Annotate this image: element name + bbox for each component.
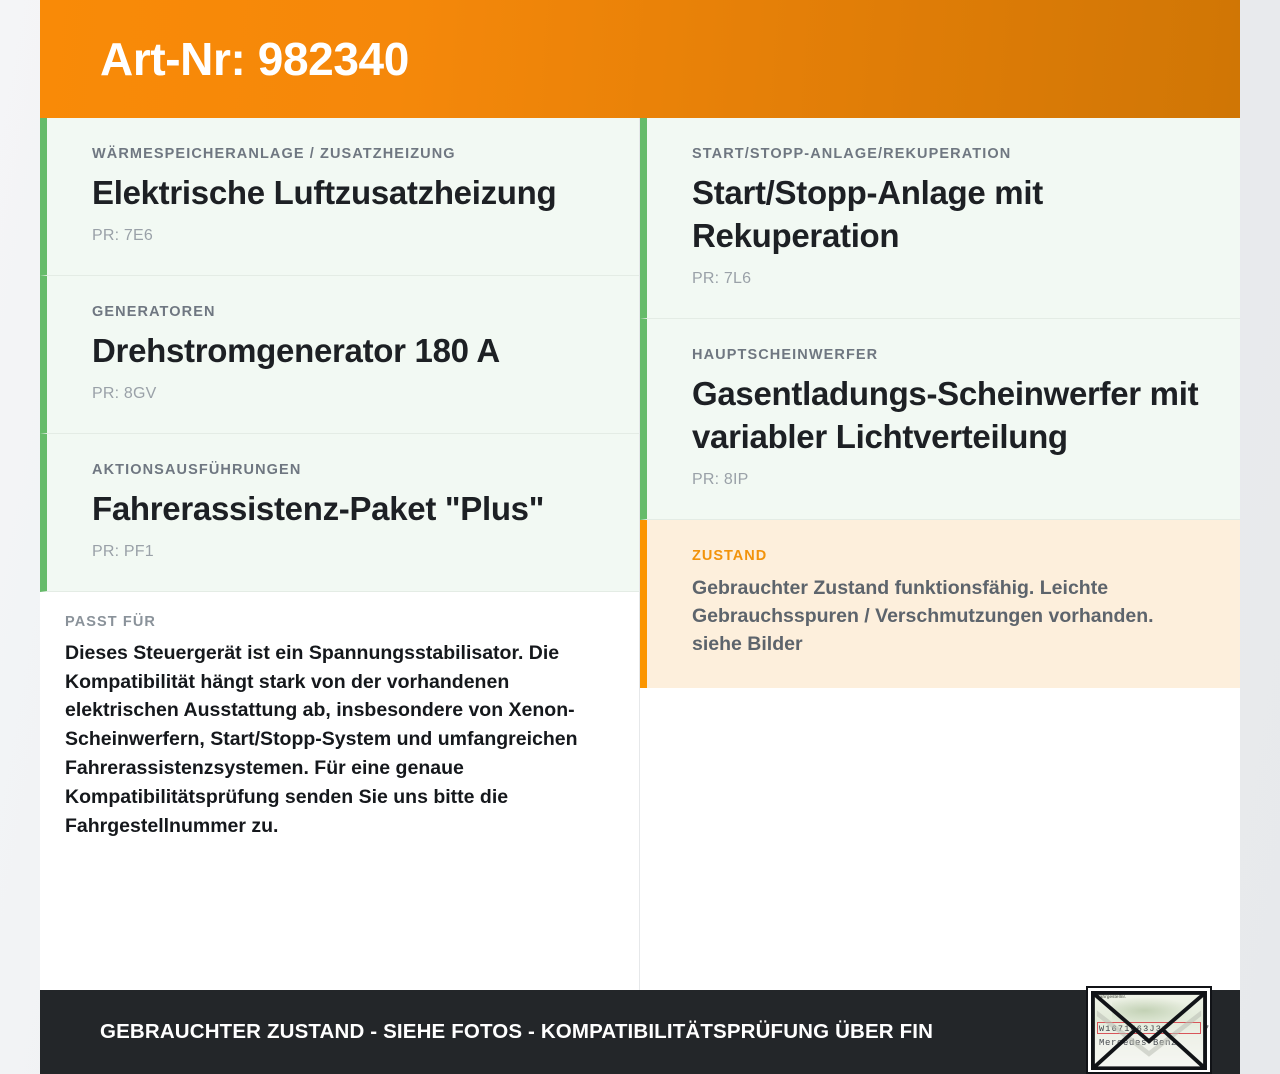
fits-for-text: Dieses Steuergerät ist ein Spannungsstab… (65, 639, 599, 841)
feature-category: WÄRMESPEICHERANLAGE / ZUSATZHEIZUNG (92, 146, 599, 162)
feature-pr-code: PR: 7L6 (692, 270, 1200, 288)
feature-title: Elektrische Luftzusatzheizung (92, 172, 599, 215)
feature-category: START/STOPP-ANLAGE/REKUPERATION (692, 146, 1200, 162)
listing-page: Art-Nr: 982340 WÄRMESPEICHERANLAGE / ZUS… (40, 0, 1240, 1074)
feature-title: Start/Stopp-Anlage mit Rekuperation (692, 172, 1200, 258)
page-footer: GEBRAUCHTER ZUSTAND - SIEHE FOTOS - KOMP… (40, 990, 1240, 1074)
feature-pr-code: PR: 8IP (692, 471, 1200, 489)
feature-category: GENERATOREN (92, 304, 599, 320)
main-content: WÄRMESPEICHERANLAGE / ZUSATZHEIZUNG Elek… (40, 118, 1240, 990)
feature-title: Drehstromgenerator 180 A (92, 330, 599, 373)
fits-for-label: PASST FÜR (65, 614, 599, 630)
left-column: WÄRMESPEICHERANLAGE / ZUSATZHEIZUNG Elek… (40, 118, 640, 990)
feature-title: Fahrerassistenz-Paket "Plus" (92, 488, 599, 531)
page-title: Art-Nr: 982340 (100, 34, 409, 85)
feature-pr-code: PR: PF1 (92, 543, 599, 561)
right-column: START/STOPP-ANLAGE/REKUPERATION Start/St… (640, 118, 1240, 990)
feature-card: HAUPTSCHEINWERFER Gasentladungs-Scheinwe… (640, 319, 1240, 520)
feature-card: START/STOPP-ANLAGE/REKUPERATION Start/St… (640, 118, 1240, 319)
envelope-icon (1091, 991, 1207, 1070)
feature-pr-code: PR: 8GV (92, 385, 599, 403)
right-column-filler (640, 688, 1240, 990)
page-header: Art-Nr: 982340 (40, 0, 1240, 118)
condition-card: ZUSTAND Gebrauchter Zustand funktionsfäh… (640, 520, 1240, 689)
left-column-filler (40, 871, 639, 990)
condition-text: Gebrauchter Zustand funktionsfähig. Leic… (692, 574, 1200, 659)
feature-pr-code: PR: 7E6 (92, 227, 599, 245)
feature-category: HAUPTSCHEINWERFER (692, 347, 1200, 363)
condition-label: ZUSTAND (692, 548, 1200, 564)
vehicle-document-thumbnail[interactable]: Fahrgestellnr. W1671463J31 7 Mercedes-Be… (1086, 986, 1212, 1074)
feature-card: AKTIONSAUSFÜHRUNGEN Fahrerassistenz-Pake… (40, 434, 639, 592)
feature-card: GENERATOREN Drehstromgenerator 180 A PR:… (40, 276, 639, 434)
feature-card: WÄRMESPEICHERANLAGE / ZUSATZHEIZUNG Elek… (40, 118, 639, 276)
feature-title: Gasentladungs-Scheinwerfer mit variabler… (692, 373, 1200, 459)
fits-for-section: PASST FÜR Dieses Steuergerät ist ein Spa… (40, 592, 639, 871)
footer-notice: GEBRAUCHTER ZUSTAND - SIEHE FOTOS - KOMP… (100, 1020, 933, 1044)
feature-category: AKTIONSAUSFÜHRUNGEN (92, 462, 599, 478)
